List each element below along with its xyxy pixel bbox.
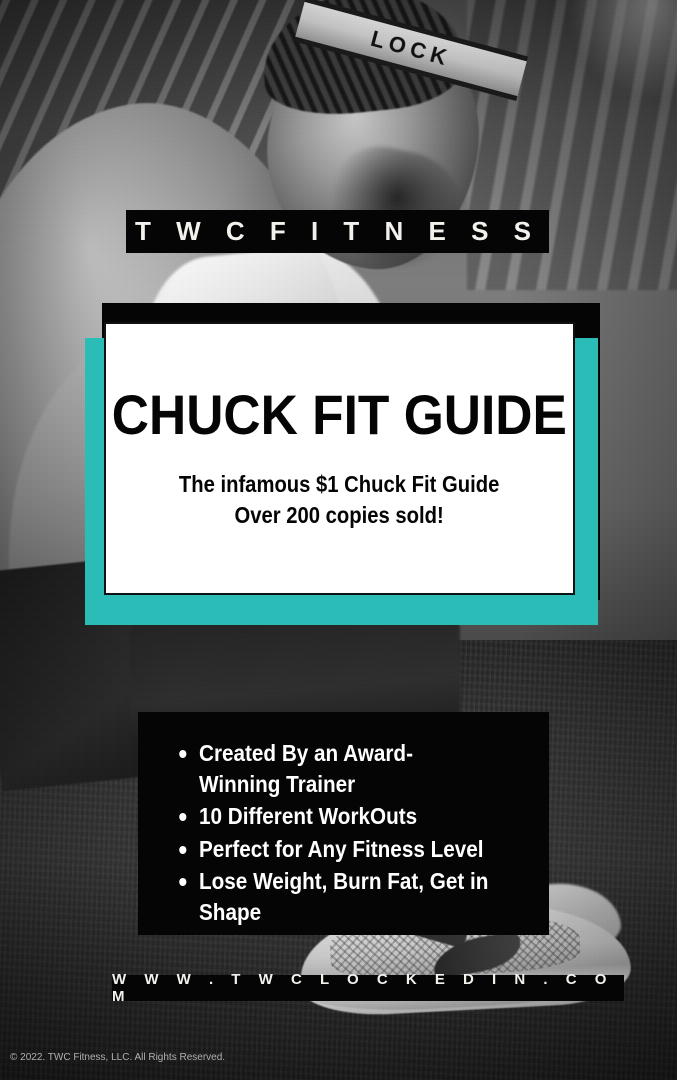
copyright-notice: © 2022. TWC Fitness, LLC. All Rights Res… bbox=[10, 1052, 225, 1063]
hero-subtitle-line-1: The infamous $1 Chuck Fit Guide bbox=[179, 469, 500, 499]
features-list: Created By an Award-Winning Trainer 10 D… bbox=[172, 738, 527, 927]
brand-banner: T W C F I T N E S S bbox=[126, 210, 549, 253]
page-title: CHUCK FIT GUIDE bbox=[112, 387, 567, 443]
list-item: Created By an Award-Winning Trainer bbox=[172, 738, 492, 799]
hero-subtitle-line-2: Over 200 copies sold! bbox=[179, 500, 500, 530]
list-item: 10 Different WorkOuts bbox=[172, 801, 492, 832]
list-item: Perfect for Any Fitness Level bbox=[172, 834, 492, 865]
website-url-bar[interactable]: W W W . T W C L O C K E D I N . C O M bbox=[112, 975, 624, 1001]
list-item: Lose Weight, Burn Fat, Get in Shape bbox=[172, 866, 492, 927]
hero-subtitle: The infamous $1 Chuck Fit Guide Over 200… bbox=[179, 469, 500, 530]
website-url: W W W . T W C L O C K E D I N . C O M bbox=[112, 971, 624, 1005]
brand-name: T W C F I T N E S S bbox=[135, 216, 540, 247]
features-box: Created By an Award-Winning Trainer 10 D… bbox=[138, 712, 549, 935]
hero-card: CHUCK FIT GUIDE The infamous $1 Chuck Fi… bbox=[104, 322, 575, 595]
